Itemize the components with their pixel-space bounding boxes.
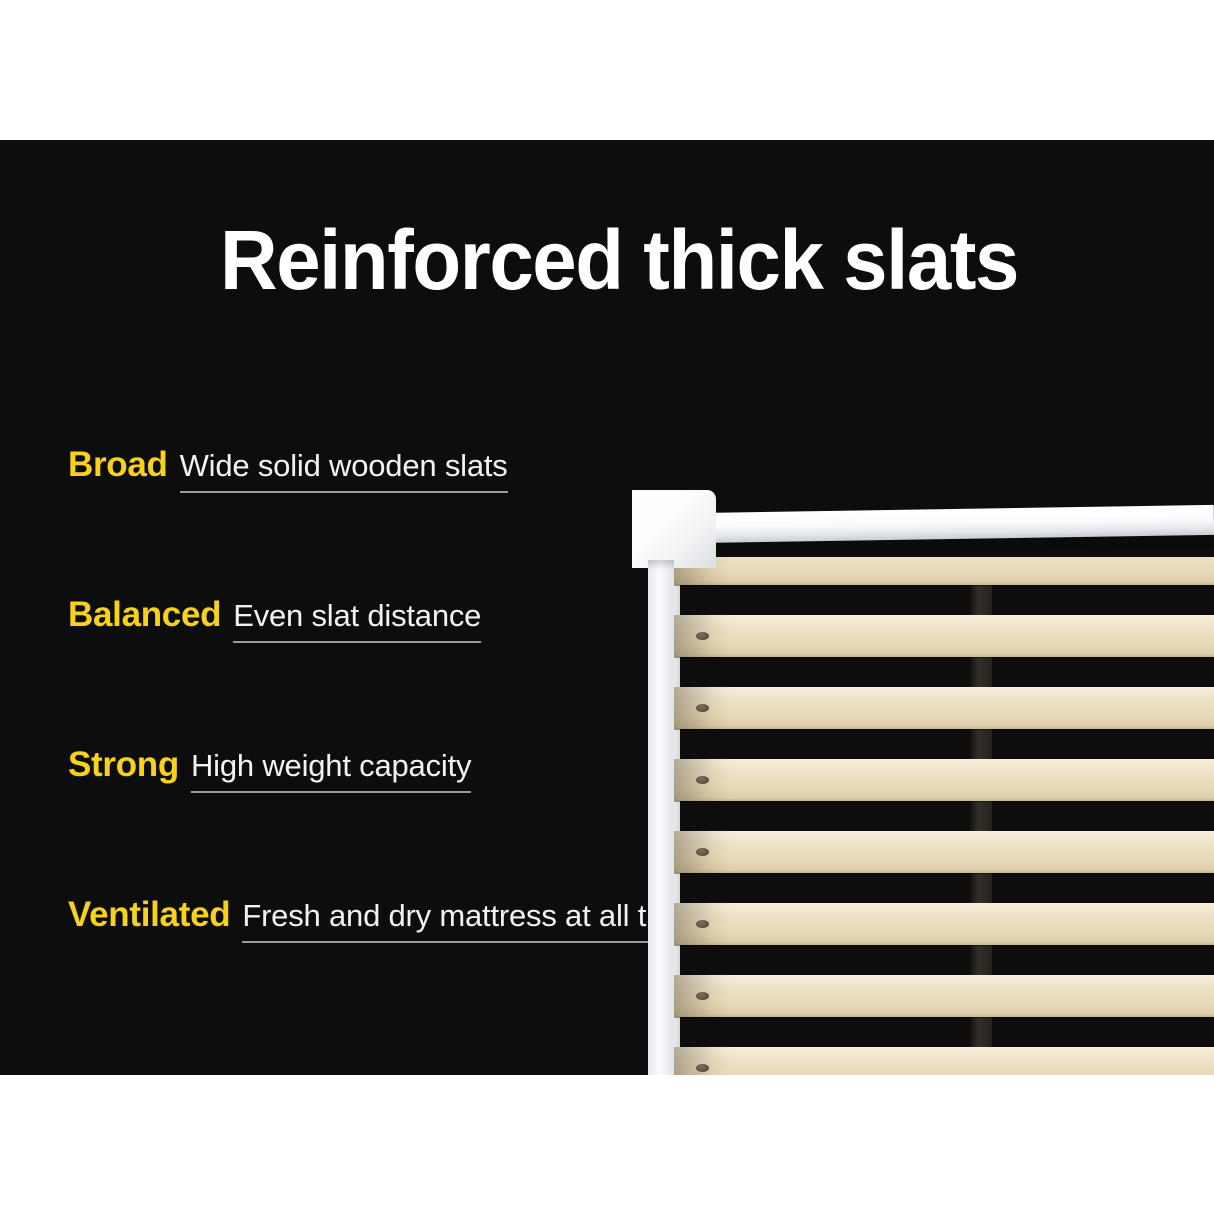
wooden-slat	[674, 557, 1214, 585]
corner-post-leg	[648, 560, 674, 1075]
feature-description-underline: Even slat distance	[233, 598, 481, 643]
feature-item-ventilated: Ventilated Fresh and dry mattress at all…	[68, 895, 648, 1045]
wooden-slat	[674, 759, 1214, 801]
feature-description-underline: Wide solid wooden slats	[180, 448, 508, 493]
feature-description: High weight capacity	[191, 748, 471, 784]
wooden-slat	[674, 615, 1214, 657]
wooden-slat	[674, 831, 1214, 873]
feature-term: Broad	[68, 445, 168, 485]
wooden-slat	[674, 1047, 1214, 1075]
feature-item-broad: Broad Wide solid wooden slats	[68, 445, 648, 595]
product-photo-bed-frame	[628, 345, 1214, 1075]
corner-post-head	[632, 490, 716, 568]
feature-description: Even slat distance	[233, 598, 481, 634]
feature-term: Strong	[68, 745, 179, 785]
page-title: Reinforced thick slats	[220, 218, 1018, 302]
feature-term: Ventilated	[68, 895, 230, 935]
wooden-slats	[674, 557, 1214, 1075]
feature-item-strong: Strong High weight capacity	[68, 745, 648, 895]
feature-panel: Reinforced thick slats Broad Wide solid …	[0, 140, 1214, 1075]
feature-list: Broad Wide solid wooden slats Balanced E…	[68, 445, 648, 1045]
product-feature-banner: Reinforced thick slats Broad Wide solid …	[0, 0, 1214, 1214]
feature-description-underline: High weight capacity	[191, 748, 471, 793]
wooden-slat	[674, 975, 1214, 1017]
wooden-slat	[674, 903, 1214, 945]
feature-item-balanced: Balanced Even slat distance	[68, 595, 648, 745]
wooden-slat	[674, 687, 1214, 729]
feature-description: Wide solid wooden slats	[180, 448, 508, 484]
corner-post-shadow	[648, 560, 674, 570]
feature-term: Balanced	[68, 595, 221, 635]
